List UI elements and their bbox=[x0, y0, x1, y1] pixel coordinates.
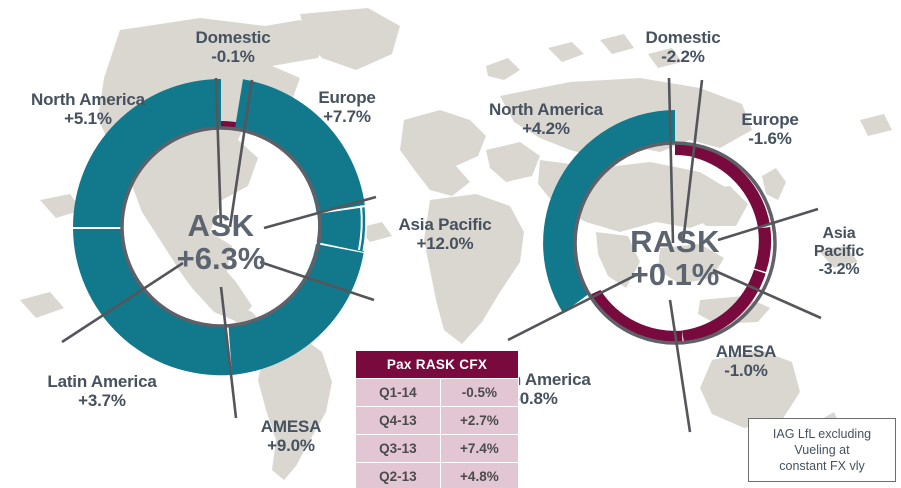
rask-label-amesa: AMESA -1.0% bbox=[700, 342, 792, 380]
rask-leader-amesa bbox=[670, 300, 690, 432]
rask-label-asia-pacific-line1: Asia bbox=[796, 225, 882, 243]
footnote-line-3: constant FX vly bbox=[754, 458, 890, 474]
ask-label-domestic: Domestic -0.1% bbox=[178, 28, 288, 66]
ask-label-amesa-value: +9.0% bbox=[245, 436, 337, 455]
ask-center-title: ASK bbox=[150, 210, 292, 243]
ask-label-amesa: AMESA +9.0% bbox=[245, 417, 337, 455]
rask-label-asia-pacific-line2: Pacific bbox=[796, 243, 882, 261]
ask-label-europe-value: +7.7% bbox=[305, 107, 389, 126]
ask-center-value: +6.3% bbox=[150, 243, 292, 276]
rask-leader-domestic-left bbox=[669, 78, 673, 243]
ask-label-latin-america: Latin America +3.7% bbox=[22, 372, 182, 410]
ask-label-asia-pacific: Asia Pacific +12.0% bbox=[384, 215, 506, 253]
rask-label-north-america: North America +4.2% bbox=[466, 100, 626, 138]
slide-canvas: ASK +6.3% Domestic -0.1% North America +… bbox=[0, 0, 901, 488]
ask-label-north-america-value: +5.1% bbox=[8, 109, 168, 128]
rask-label-domestic: Domestic -2.2% bbox=[628, 28, 738, 66]
table-row: Q4-13 +2.7% bbox=[356, 407, 519, 435]
rask-center-label: RASK +0.1% bbox=[600, 226, 750, 291]
ask-center-label: ASK +6.3% bbox=[150, 210, 292, 275]
pax-rask-cfx-table: Pax RASK CFX Q1-14 -0.5% Q4-13 +2.7% Q3-… bbox=[355, 350, 519, 488]
rask-label-asia-pacific-value: -3.2% bbox=[796, 261, 882, 279]
table-row: Q1-14 -0.5% bbox=[356, 379, 519, 407]
table-header-row: Pax RASK CFX bbox=[356, 351, 519, 379]
ask-label-latin-america-value: +3.7% bbox=[22, 391, 182, 410]
rask-segment-asia-pacific bbox=[754, 227, 771, 272]
rask-label-europe: Europe -1.6% bbox=[728, 110, 812, 148]
rask-label-domestic-value: -2.2% bbox=[628, 47, 738, 66]
rask-center-value: +0.1% bbox=[600, 259, 750, 292]
ask-label-europe-name: Europe bbox=[305, 88, 389, 107]
ask-label-asia-pacific-value: +12.0% bbox=[384, 234, 506, 253]
rask-label-amesa-value: -1.0% bbox=[700, 361, 792, 380]
table-cell-value: +7.4% bbox=[440, 435, 518, 463]
table-cell-value: +4.8% bbox=[440, 463, 518, 488]
ask-label-north-america-name: North America bbox=[8, 90, 168, 109]
ask-label-domestic-name: Domestic bbox=[178, 28, 288, 47]
table-cell-value: -0.5% bbox=[440, 379, 518, 407]
rask-label-europe-name: Europe bbox=[728, 110, 812, 129]
table-cell-quarter: Q2-13 bbox=[356, 463, 441, 488]
table-cell-value: +2.7% bbox=[440, 407, 518, 435]
ask-label-europe: Europe +7.7% bbox=[305, 88, 389, 126]
rask-label-amesa-name: AMESA bbox=[700, 342, 792, 361]
footnote-line-2: Vueling at bbox=[754, 442, 890, 458]
rask-leader-domestic-right bbox=[683, 80, 702, 243]
table-header-title: Pax RASK CFX bbox=[356, 351, 519, 379]
footnote-box: IAG LfL excluding Vueling at constant FX… bbox=[748, 418, 896, 482]
table-cell-quarter: Q3-13 bbox=[356, 435, 441, 463]
table-row: Q3-13 +7.4% bbox=[356, 435, 519, 463]
table-cell-quarter: Q1-14 bbox=[356, 379, 441, 407]
rask-label-asia-pacific: Asia Pacific -3.2% bbox=[796, 225, 882, 279]
table-row: Q2-13 +4.8% bbox=[356, 463, 519, 488]
footnote-line-1: IAG LfL excluding bbox=[754, 426, 890, 442]
rask-label-europe-value: -1.6% bbox=[728, 129, 812, 148]
ask-label-domestic-value: -0.1% bbox=[178, 47, 288, 66]
ask-label-asia-pacific-name: Asia Pacific bbox=[384, 215, 506, 234]
rask-center-title: RASK bbox=[600, 226, 750, 259]
rask-label-domestic-name: Domestic bbox=[628, 28, 738, 47]
rask-label-north-america-value: +4.2% bbox=[466, 119, 626, 138]
ask-label-amesa-name: AMESA bbox=[245, 417, 337, 436]
ask-label-north-america: North America +5.1% bbox=[8, 90, 168, 128]
ask-label-latin-america-name: Latin America bbox=[22, 372, 182, 391]
table-cell-quarter: Q4-13 bbox=[356, 407, 441, 435]
rask-label-north-america-name: North America bbox=[466, 100, 626, 119]
